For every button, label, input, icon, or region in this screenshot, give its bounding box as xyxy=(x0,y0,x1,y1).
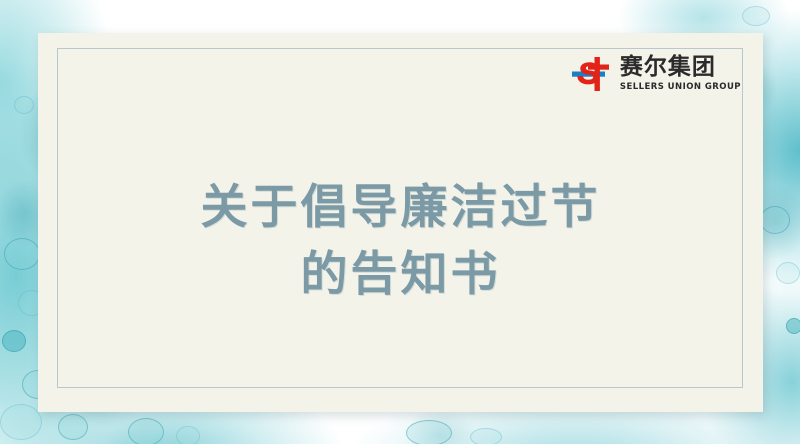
logo-company-name-cn: 赛尔集团 xyxy=(620,56,716,79)
company-logo: 赛尔集团 SELLERS UNION GROUP xyxy=(569,54,741,94)
document-title: 关于倡导廉洁过节 的告知书 xyxy=(38,175,763,308)
logo-company-name-en: SELLERS UNION GROUP xyxy=(620,83,741,92)
slide-canvas: 赛尔集团 SELLERS UNION GROUP 关于倡导廉洁过节 的告知书 xyxy=(0,0,800,444)
title-line-1: 关于倡导廉洁过节 xyxy=(38,175,763,242)
title-line-2: 的告知书 xyxy=(38,242,763,309)
document-card: 赛尔集团 SELLERS UNION GROUP 关于倡导廉洁过节 的告知书 xyxy=(38,33,763,412)
sellers-union-group-logo-mark xyxy=(569,54,613,94)
logo-text-block: 赛尔集团 SELLERS UNION GROUP xyxy=(620,56,741,92)
